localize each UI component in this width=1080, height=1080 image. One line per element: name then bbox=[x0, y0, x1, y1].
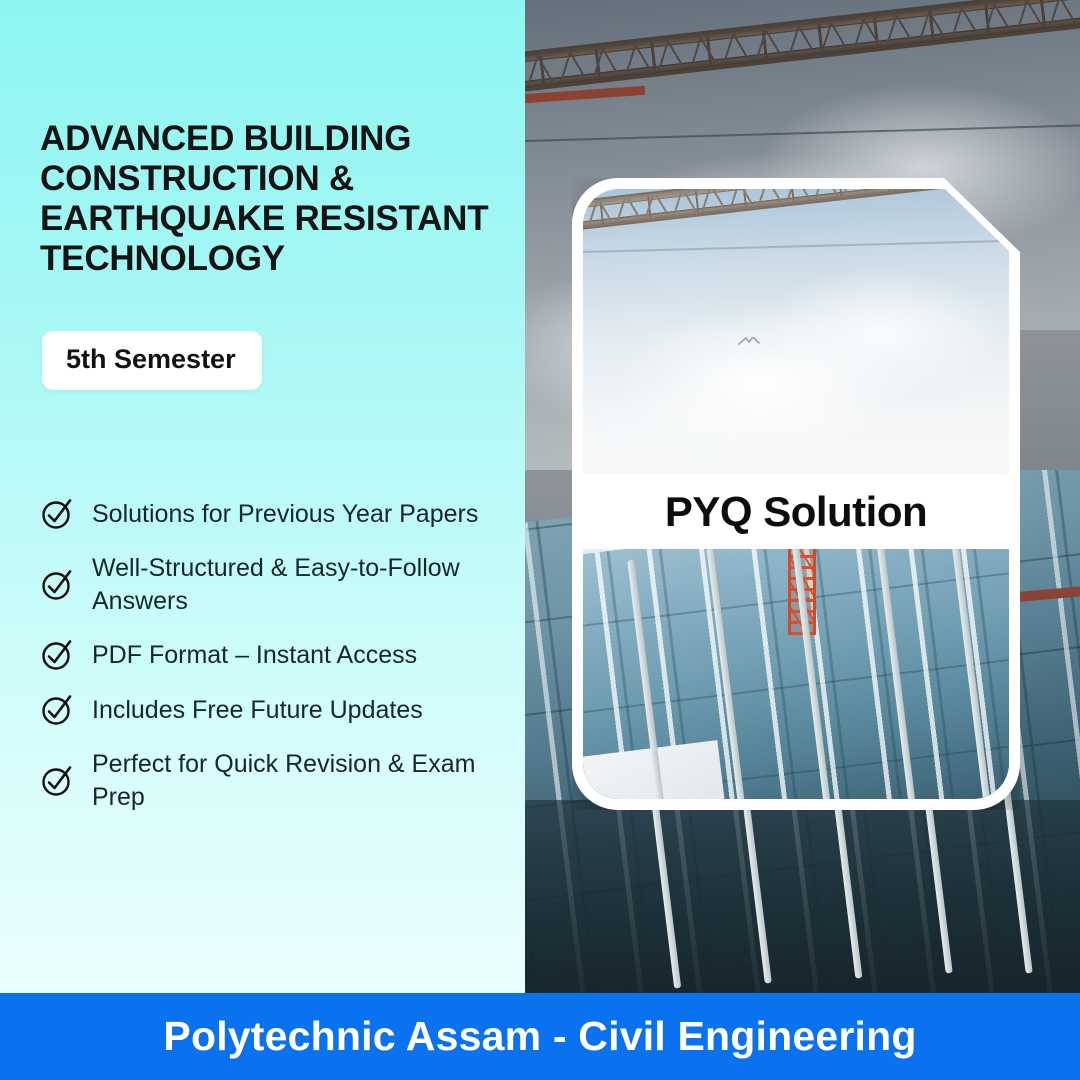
circle-check-icon bbox=[40, 497, 74, 531]
pyq-solution-card: PYQ Solution bbox=[572, 178, 1020, 810]
page-title: ADVANCED BUILDING CONSTRUCTION & EARTHQU… bbox=[40, 119, 500, 279]
list-item: Includes Free Future Updates bbox=[40, 693, 505, 727]
list-item-label: Solutions for Previous Year Papers bbox=[92, 498, 478, 531]
list-item-label: Perfect for Quick Revision & Exam Prep bbox=[92, 748, 505, 813]
poster-canvas: PYQ Solution ADVANCED BUILDING CONSTRUCT… bbox=[0, 0, 1080, 1080]
list-item: PDF Format – Instant Access bbox=[40, 638, 505, 672]
left-panel: ADVANCED BUILDING CONSTRUCTION & EARTHQU… bbox=[0, 0, 525, 993]
circle-check-icon bbox=[40, 638, 74, 672]
semester-badge-label: 5th Semester bbox=[66, 344, 236, 374]
circle-check-icon bbox=[40, 693, 74, 727]
list-item: Perfect for Quick Revision & Exam Prep bbox=[40, 748, 505, 813]
card-photo: PYQ Solution bbox=[583, 189, 1009, 799]
circle-check-icon bbox=[40, 764, 74, 798]
card-label-band: PYQ Solution bbox=[583, 475, 1009, 549]
footer-banner: Polytechnic Assam - Civil Engineering bbox=[0, 993, 1080, 1080]
list-item: Well-Structured & Easy-to-Follow Answers bbox=[40, 552, 505, 617]
list-item-label: Includes Free Future Updates bbox=[92, 694, 423, 727]
list-item-label: Well-Structured & Easy-to-Follow Answers bbox=[92, 552, 505, 617]
footer-banner-text: Polytechnic Assam - Civil Engineering bbox=[163, 1013, 916, 1060]
feature-list: Solutions for Previous Year Papers Well-… bbox=[40, 497, 505, 813]
bird-icon bbox=[738, 337, 760, 347]
card-glass-building bbox=[583, 539, 1009, 799]
semester-badge: 5th Semester bbox=[42, 331, 262, 390]
circle-check-icon bbox=[40, 568, 74, 602]
facade-shadow bbox=[525, 800, 1080, 993]
list-item: Solutions for Previous Year Papers bbox=[40, 497, 505, 531]
list-item-label: PDF Format – Instant Access bbox=[92, 639, 417, 672]
card-label-text: PYQ Solution bbox=[665, 488, 927, 536]
